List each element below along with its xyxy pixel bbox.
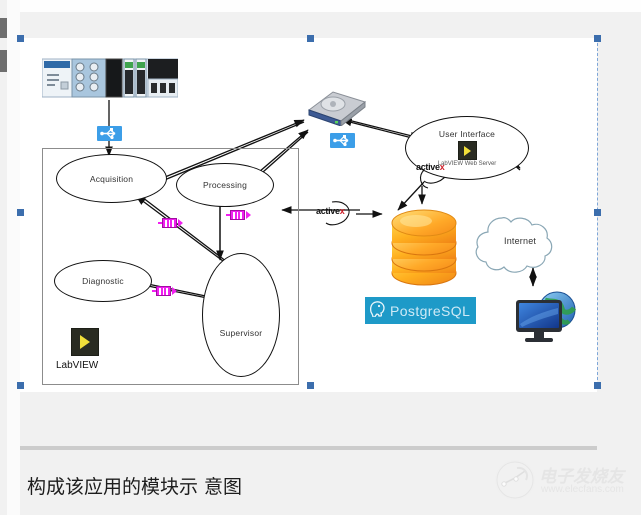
monitor-globe-icon	[513, 288, 583, 346]
labview-box-label: LabVIEW	[56, 360, 98, 371]
architecture-diagram: Acquisition Processing Diagnostic Superv…	[20, 38, 597, 392]
node-acquisition[interactable]: Acquisition	[56, 154, 167, 203]
postgresql-elephant-icon	[368, 299, 386, 322]
node-sublabel: LabVIEW Web Server	[438, 161, 497, 167]
labview-icon	[71, 328, 99, 356]
database-cylinder-icon	[386, 201, 462, 295]
ni-daq-chassis-icon	[42, 56, 178, 100]
node-label: Supervisor	[220, 328, 263, 338]
selection-handle-n[interactable]	[307, 35, 314, 42]
edge-tab-top[interactable]	[0, 18, 7, 38]
edge-tab-second[interactable]	[0, 50, 7, 72]
selection-handle-nw[interactable]	[17, 35, 24, 42]
selection-handle-se[interactable]	[594, 382, 601, 389]
activex-text-a: active	[316, 206, 340, 216]
node-label: Diagnostic	[82, 276, 124, 286]
selection-handle-ne[interactable]	[594, 35, 601, 42]
labview-icon	[458, 141, 477, 160]
queue-box	[162, 218, 177, 228]
activex-logo-icon: activex	[316, 206, 344, 216]
queue-arrow	[246, 211, 251, 219]
elecfans-watermark: 电子发烧友 www.elecfans.com	[495, 458, 635, 510]
selection-handle-e[interactable]	[594, 209, 601, 216]
node-diagnostic[interactable]: Diagnostic	[54, 260, 152, 302]
labview-queue-icon	[226, 210, 251, 220]
usb-icon	[330, 133, 355, 148]
queue-arrow	[178, 219, 183, 227]
labview-queue-icon	[152, 286, 177, 296]
node-internet[interactable]: Internet	[482, 208, 572, 273]
watermark-url: www.elecfans.com	[541, 484, 624, 495]
page-caption: 构成该应用的模块示 意图	[27, 472, 242, 499]
node-label: Processing	[203, 180, 247, 190]
queue-box	[230, 210, 245, 220]
node-processing[interactable]: Processing	[176, 163, 274, 207]
selection-handle-sw[interactable]	[17, 382, 24, 389]
activex-text-a: active	[416, 162, 440, 172]
postgresql-label: PostgreSQL	[390, 303, 470, 319]
node-label: Internet	[504, 236, 536, 246]
node-label: Acquisition	[90, 174, 133, 184]
node-supervisor[interactable]: Supervisor	[202, 253, 280, 377]
hard-disk-icon	[305, 88, 367, 126]
diagram-canvas[interactable]: Acquisition Processing Diagnostic Superv…	[20, 38, 597, 392]
elecfans-logo-icon	[495, 460, 535, 500]
node-label: User Interface	[439, 129, 495, 139]
queue-box	[156, 286, 171, 296]
section-divider	[20, 446, 597, 450]
queue-arrow	[172, 287, 177, 295]
top-gutter	[20, 0, 641, 12]
postgresql-banner: PostgreSQL	[365, 297, 476, 324]
activex-text-b: x	[340, 206, 345, 216]
left-gutter	[7, 0, 20, 515]
labview-queue-icon	[158, 218, 183, 228]
selection-handle-w[interactable]	[17, 209, 24, 216]
activex-logo-icon: activex	[416, 162, 444, 172]
selection-handle-s[interactable]	[307, 382, 314, 389]
usb-icon	[97, 126, 122, 141]
activex-text-b: x	[440, 162, 445, 172]
